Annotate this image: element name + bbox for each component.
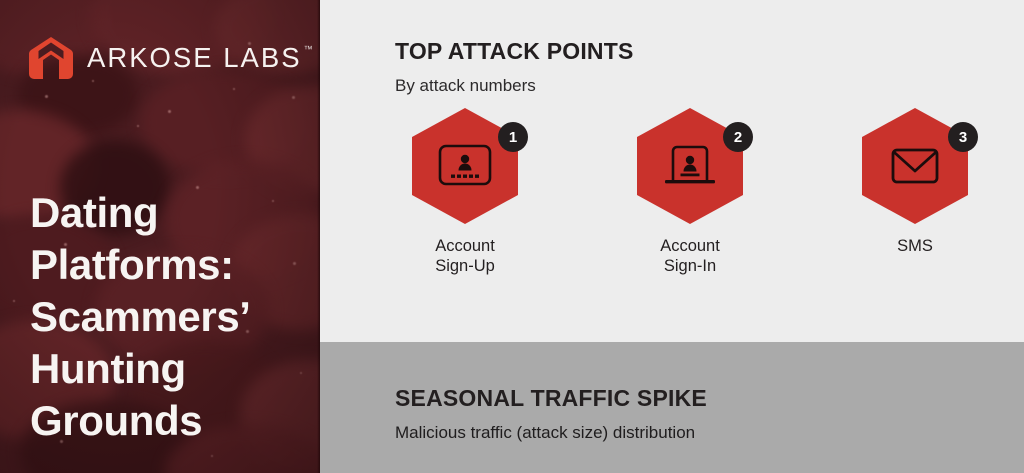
left-title-panel: ARKOSE LABS ™ Dating Platforms: Scammers… [0,0,320,473]
logo-wordmark: ARKOSE LABS ™ [87,43,313,73]
bottom-section-subheading: Malicious traffic (attack size) distribu… [395,423,695,443]
bg-speck [92,80,94,82]
rank-badge: 3 [948,122,978,152]
trademark-symbol: ™ [304,44,313,55]
top-attack-points-section: TOP ATTACK POINTS By attack numbers [320,0,1024,342]
attack-points-list: 1 Account Sign-Up 2 Account [380,108,1000,276]
bg-speck [168,110,171,113]
id-card-person-icon [437,140,493,192]
top-section-heading: TOP ATTACK POINTS [395,38,634,65]
attack-point-label: Account Sign-Up [435,236,495,276]
bg-speck [13,300,15,302]
bottom-section-heading: SEASONAL TRAFFIC SPIKE [395,385,707,412]
attack-point-account-sign-up[interactable]: 1 Account Sign-Up [380,108,550,276]
attack-point-sms[interactable]: 3 SMS [830,108,1000,276]
hex-badge-wrapper: 1 [412,108,518,224]
attack-point-label: SMS [897,236,933,256]
hex-badge-wrapper: 3 [862,108,968,224]
arkose-shield-icon [28,36,74,80]
infographic-canvas: ARKOSE LABS ™ Dating Platforms: Scammers… [0,0,1024,473]
seasonal-traffic-spike-section: SEASONAL TRAFFIC SPIKE Malicious traffic… [320,342,1024,473]
attack-point-label: Account Sign-In [660,236,720,276]
envelope-icon [887,140,943,192]
hex-badge-wrapper: 2 [637,108,743,224]
page-title: Dating Platforms: Scammers’ Hunting Grou… [30,187,305,447]
logo-text: ARKOSE LABS [87,43,302,73]
attack-point-account-sign-in[interactable]: 2 Account Sign-In [605,108,775,276]
laptop-person-icon [662,140,718,192]
arkose-labs-logo[interactable]: ARKOSE LABS ™ [28,36,313,80]
rank-badge: 2 [723,122,753,152]
bg-speck [211,455,213,457]
top-section-subheading: By attack numbers [395,76,536,96]
rank-badge: 1 [498,122,528,152]
bg-speck [45,95,48,98]
bg-speck [292,96,295,99]
bg-speck [233,88,235,90]
bg-speck [137,125,139,127]
